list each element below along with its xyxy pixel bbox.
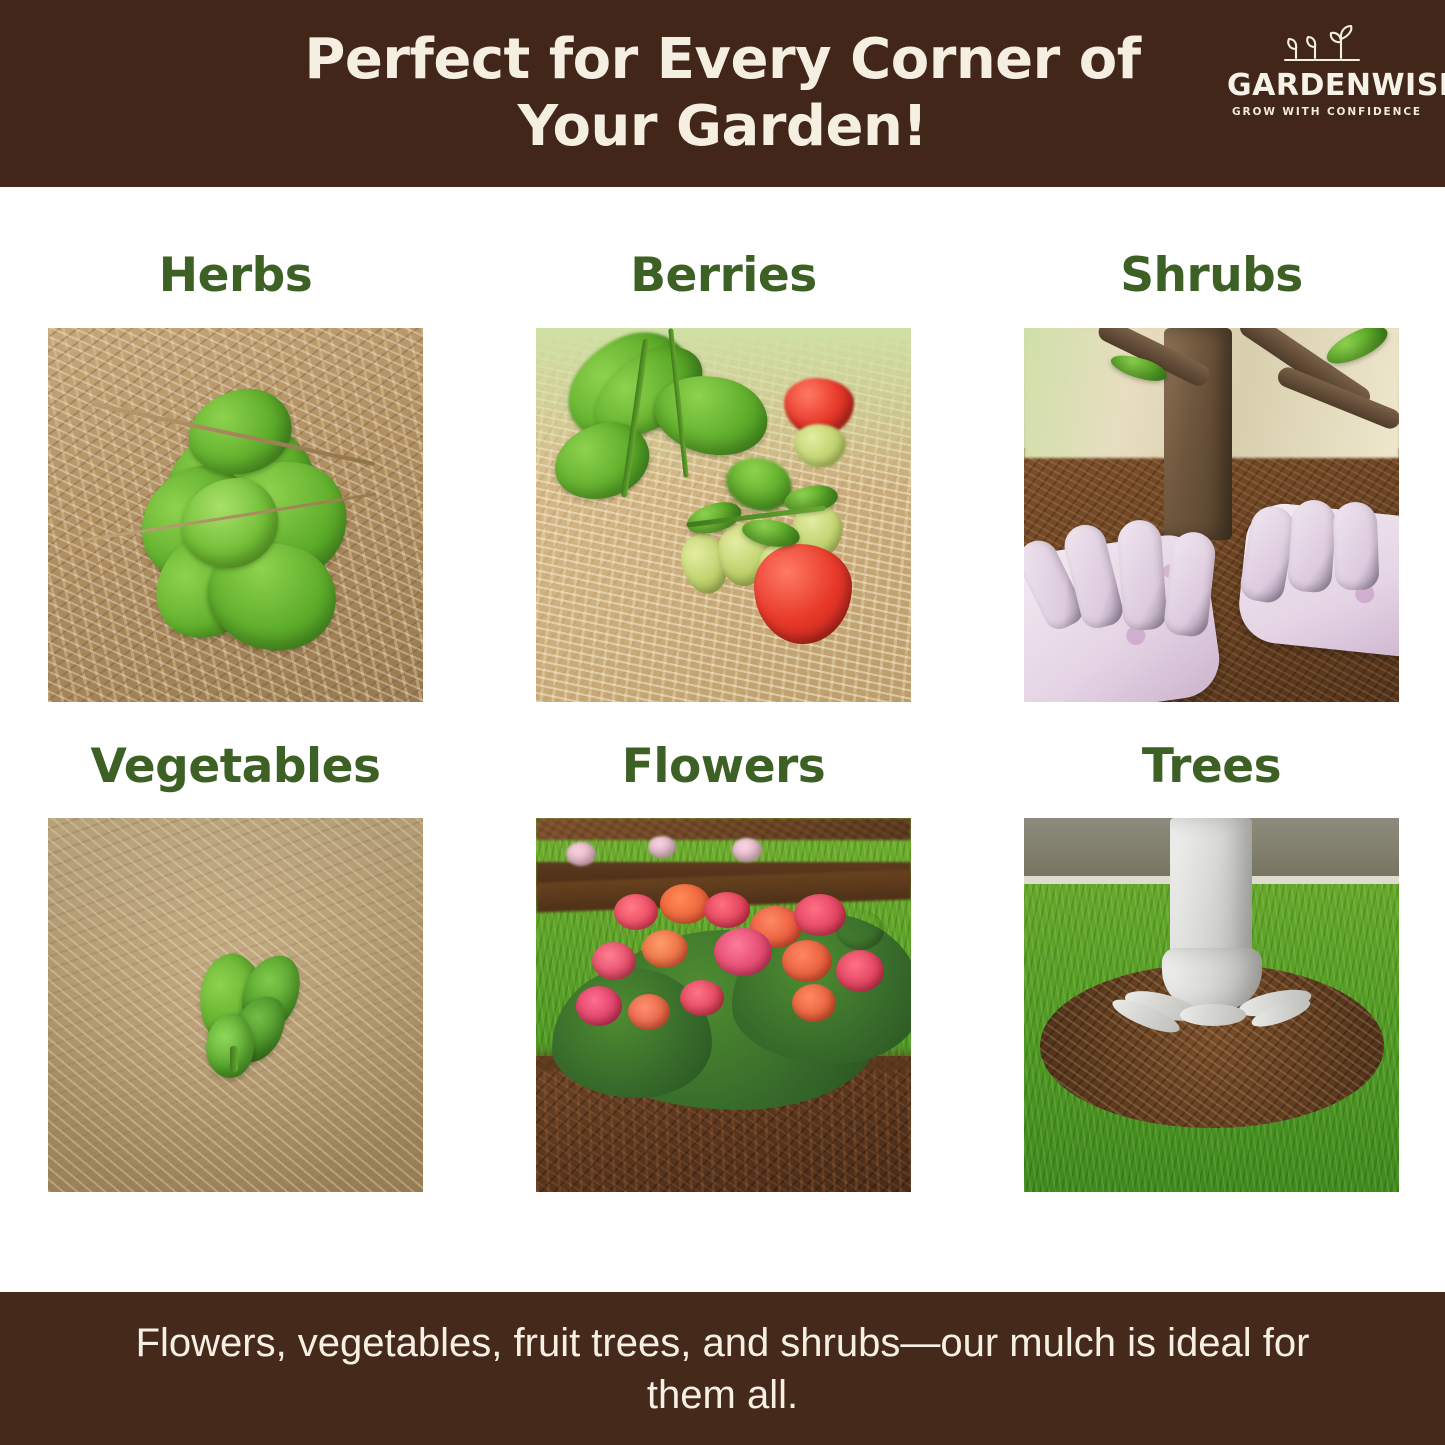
page-title: Perfect for Every Corner of Your Garden! bbox=[213, 27, 1233, 159]
footer-text: Flowers, vegetables, fruit trees, and sh… bbox=[88, 1317, 1358, 1421]
category-cell-flowers: Flowers bbox=[536, 714, 911, 1192]
trees-photo bbox=[1024, 818, 1399, 1192]
vegetables-photo bbox=[48, 818, 423, 1192]
footer-bar: Flowers, vegetables, fruit trees, and sh… bbox=[0, 1292, 1445, 1445]
berries-photo bbox=[536, 328, 911, 702]
category-cell-berries: Berries bbox=[536, 222, 911, 702]
category-label-herbs: Herbs bbox=[48, 222, 423, 328]
three-sprouts-icon bbox=[1279, 22, 1375, 68]
brand-logo: GARDENWISE GROW WITH CONFIDENCE bbox=[1227, 22, 1427, 118]
category-cell-vegetables: Vegetables bbox=[48, 714, 423, 1192]
category-cell-shrubs: Shrubs bbox=[1024, 222, 1399, 702]
category-label-vegetables: Vegetables bbox=[48, 714, 423, 818]
shrubs-photo bbox=[1024, 328, 1399, 702]
category-cell-herbs: Herbs bbox=[48, 222, 423, 702]
category-grid: Herbs Berries bbox=[48, 222, 1398, 1192]
category-label-flowers: Flowers bbox=[536, 714, 911, 818]
logo-wordmark: GARDENWISE bbox=[1227, 70, 1427, 102]
logo-tagline: GROW WITH CONFIDENCE bbox=[1227, 106, 1427, 118]
category-label-shrubs: Shrubs bbox=[1024, 222, 1399, 328]
category-label-trees: Trees bbox=[1024, 714, 1399, 818]
herbs-photo bbox=[48, 328, 423, 702]
category-label-berries: Berries bbox=[536, 222, 911, 328]
category-cell-trees: Trees bbox=[1024, 714, 1399, 1192]
flowers-photo bbox=[536, 818, 911, 1192]
